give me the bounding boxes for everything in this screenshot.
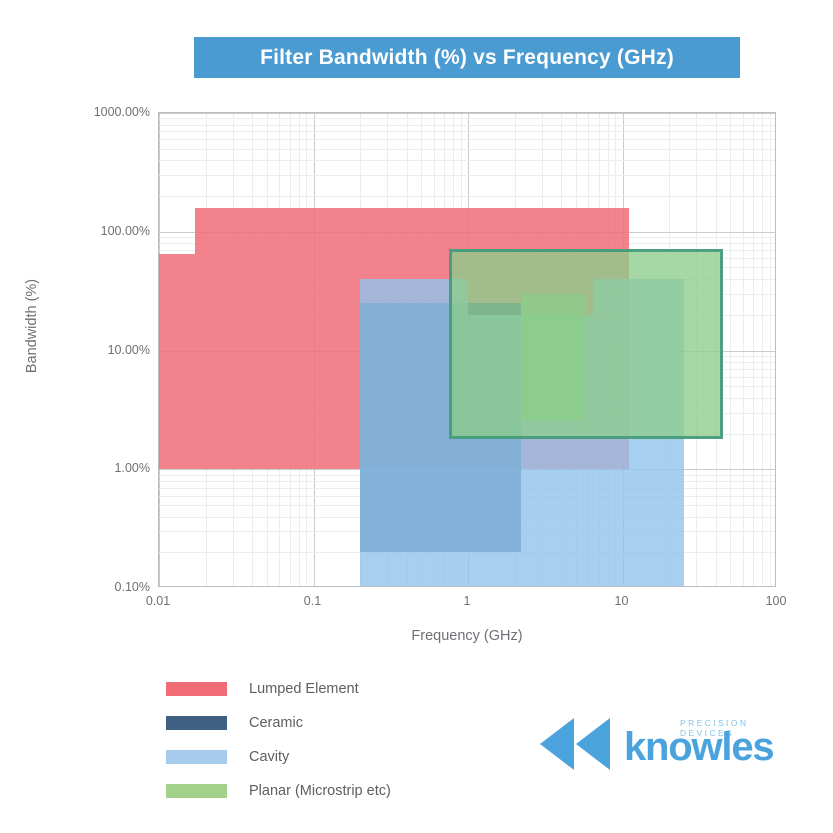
- gridline-horizontal: [159, 131, 775, 132]
- chart-legend: Lumped ElementCeramicCavityPlanar (Micro…: [166, 672, 391, 808]
- legend-label: Cavity: [249, 749, 289, 765]
- data-region-lumped-element: [159, 254, 195, 469]
- legend-label: Lumped Element: [249, 681, 359, 697]
- chart-page: Filter Bandwidth (%) vs Frequency (GHz) …: [0, 0, 833, 833]
- legend-label: Ceramic: [249, 715, 303, 731]
- legend-item[interactable]: Cavity: [166, 740, 391, 774]
- legend-swatch: [166, 750, 227, 764]
- gridline-horizontal: [159, 196, 775, 197]
- legend-swatch: [166, 716, 227, 730]
- registered-mark: ®: [604, 728, 609, 735]
- gridline-horizontal: [159, 125, 775, 126]
- gridline-horizontal: [159, 113, 775, 114]
- legend-label: Planar (Microstrip etc): [249, 783, 391, 799]
- x-axis-ticks: 0.010.1110100: [158, 594, 776, 614]
- legend-item[interactable]: Lumped Element: [166, 672, 391, 706]
- gridline-horizontal: [159, 175, 775, 176]
- y-tick-label: 1000.00%: [94, 105, 150, 119]
- gridline-vertical: [730, 113, 731, 586]
- page-title: Filter Bandwidth (%) vs Frequency (GHz): [260, 46, 674, 70]
- legend-item[interactable]: Ceramic: [166, 706, 391, 740]
- legend-item[interactable]: Planar (Microstrip etc): [166, 774, 391, 808]
- knowles-logo: ® PRECISION DEVICES knowles: [534, 714, 784, 776]
- x-tick-label: 0.1: [304, 594, 321, 608]
- gridline-horizontal: [159, 160, 775, 161]
- gridline-vertical: [743, 113, 744, 586]
- legend-swatch: [166, 784, 227, 798]
- gridline-horizontal: [159, 149, 775, 150]
- y-tick-label: 100.00%: [101, 224, 150, 238]
- x-axis-title: Frequency (GHz): [158, 628, 776, 644]
- plot-area: [158, 112, 776, 587]
- chart-title-banner: Filter Bandwidth (%) vs Frequency (GHz): [194, 37, 740, 78]
- gridline-vertical: [762, 113, 763, 586]
- y-tick-label: 0.10%: [115, 580, 150, 594]
- data-region-planar-microstrip-etc: [521, 294, 586, 420]
- gridline-vertical: [770, 113, 771, 586]
- data-region-cavity: [360, 469, 684, 586]
- plot-canvas: [159, 113, 775, 586]
- y-tick-label: 10.00%: [108, 343, 150, 357]
- x-tick-label: 0.01: [146, 594, 170, 608]
- data-region-planar-microstrip-etc: [449, 249, 724, 439]
- legend-swatch: [166, 682, 227, 696]
- y-axis-title: Bandwidth (%): [24, 256, 40, 396]
- gridline-vertical: [753, 113, 754, 586]
- gridline-horizontal: [159, 118, 775, 119]
- y-axis-ticks: 1000.00%100.00%10.00%1.00%0.10%: [60, 112, 150, 587]
- logo-wordmark: knowles: [624, 725, 773, 770]
- knowles-chevron-icon: [534, 718, 612, 770]
- gridline-horizontal: [159, 139, 775, 140]
- x-tick-label: 100: [766, 594, 787, 608]
- x-tick-label: 10: [615, 594, 629, 608]
- y-tick-label: 1.00%: [115, 461, 150, 475]
- x-tick-label: 1: [464, 594, 471, 608]
